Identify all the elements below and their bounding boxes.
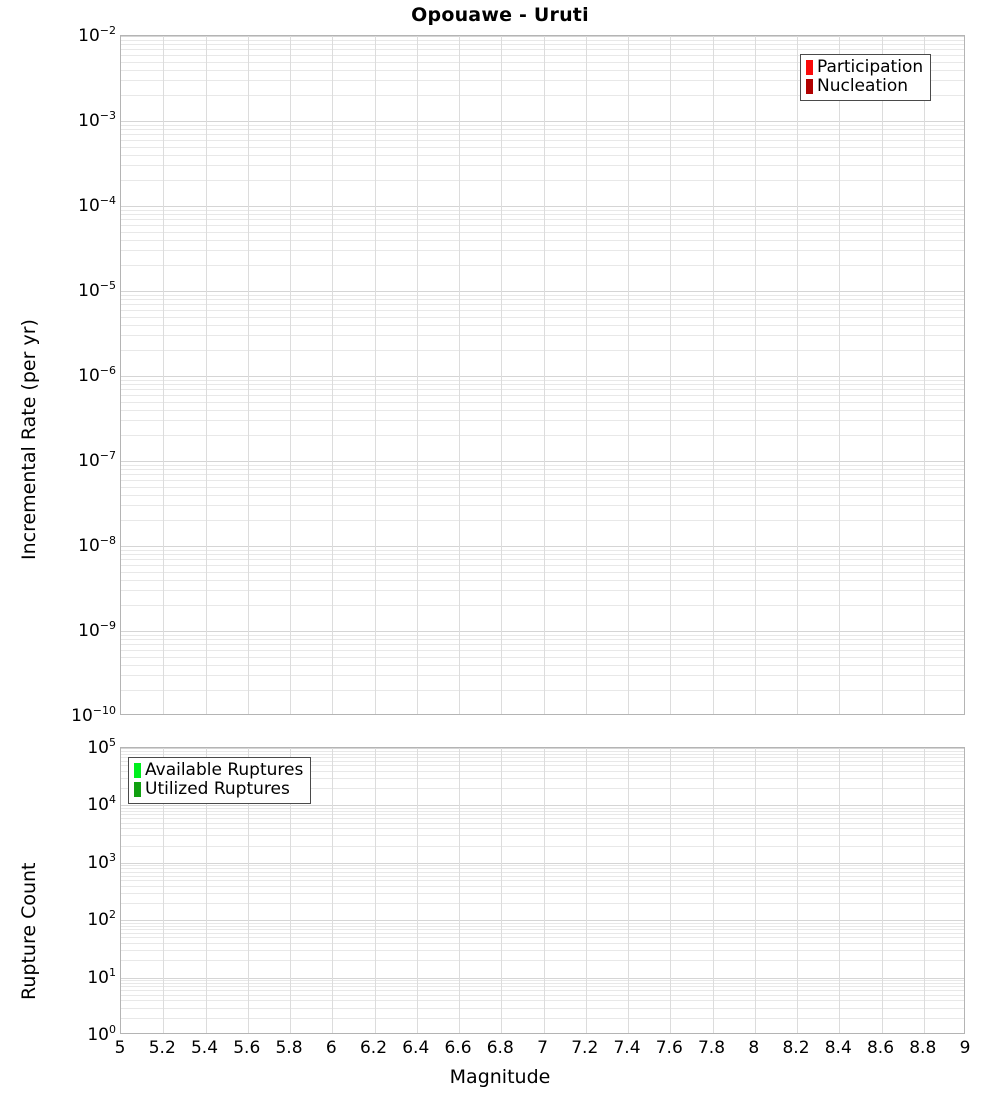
chart-page: Opouawe - Uruti 10−210−310−410−510−610−7… bbox=[0, 0, 1000, 1100]
legend-item: Utilized Ruptures bbox=[134, 780, 303, 799]
x-tick-label: 7 bbox=[537, 1038, 548, 1058]
legend-swatch-icon bbox=[134, 763, 141, 778]
legend-item: Participation bbox=[806, 58, 923, 77]
x-tick-label: 7.6 bbox=[656, 1038, 683, 1058]
incremental-rate-plot-area bbox=[120, 35, 965, 715]
x-tick-label: 5 bbox=[115, 1038, 126, 1058]
legend-rupture-count: Available RupturesUtilized Ruptures bbox=[128, 757, 311, 804]
y-tick-label: 105 bbox=[87, 736, 116, 758]
y-tick-label: 100 bbox=[87, 1023, 116, 1045]
x-tick-label: 5.6 bbox=[233, 1038, 260, 1058]
legend-label: Available Ruptures bbox=[145, 761, 303, 780]
bars-incremental-rate bbox=[121, 36, 964, 714]
x-tick-label: 7.2 bbox=[571, 1038, 598, 1058]
x-tick-label: 5.2 bbox=[149, 1038, 176, 1058]
x-tick-label: 5.8 bbox=[275, 1038, 302, 1058]
x-tick-label: 6.8 bbox=[487, 1038, 514, 1058]
legend-label: Nucleation bbox=[817, 77, 908, 96]
legend-label: Participation bbox=[817, 58, 923, 77]
x-tick-label: 9 bbox=[960, 1038, 971, 1058]
x-tick-label: 8.6 bbox=[867, 1038, 894, 1058]
x-tick-label: 6.6 bbox=[444, 1038, 471, 1058]
y-tick-label: 101 bbox=[87, 966, 116, 988]
x-tick-label: 6.4 bbox=[402, 1038, 429, 1058]
x-tick-label: 6 bbox=[326, 1038, 337, 1058]
legend-item: Nucleation bbox=[806, 77, 923, 96]
legend-item: Available Ruptures bbox=[134, 761, 303, 780]
legend-swatch-icon bbox=[134, 782, 141, 797]
page-title: Opouawe - Uruti bbox=[0, 4, 1000, 26]
y-tick-label: 103 bbox=[87, 851, 116, 873]
x-tick-label: 8 bbox=[748, 1038, 759, 1058]
legend-swatch-icon bbox=[806, 79, 813, 94]
legend-label: Utilized Ruptures bbox=[145, 780, 290, 799]
x-tick-label: 7.8 bbox=[698, 1038, 725, 1058]
x-tick-label: 8.4 bbox=[825, 1038, 852, 1058]
x-axis-label: Magnitude bbox=[0, 1066, 1000, 1088]
x-tick-label: 8.2 bbox=[782, 1038, 809, 1058]
legend-incremental-rate: ParticipationNucleation bbox=[800, 54, 931, 101]
y-axis-label-bottom: Rupture Count bbox=[18, 863, 40, 1001]
legend-swatch-icon bbox=[806, 60, 813, 75]
x-tick-label: 5.4 bbox=[191, 1038, 218, 1058]
y-tick-label: 104 bbox=[87, 794, 116, 816]
x-tick-label: 7.4 bbox=[613, 1038, 640, 1058]
x-tick-label: 6.2 bbox=[360, 1038, 387, 1058]
x-tick-label: 8.8 bbox=[909, 1038, 936, 1058]
y-tick-label: 102 bbox=[87, 908, 116, 930]
